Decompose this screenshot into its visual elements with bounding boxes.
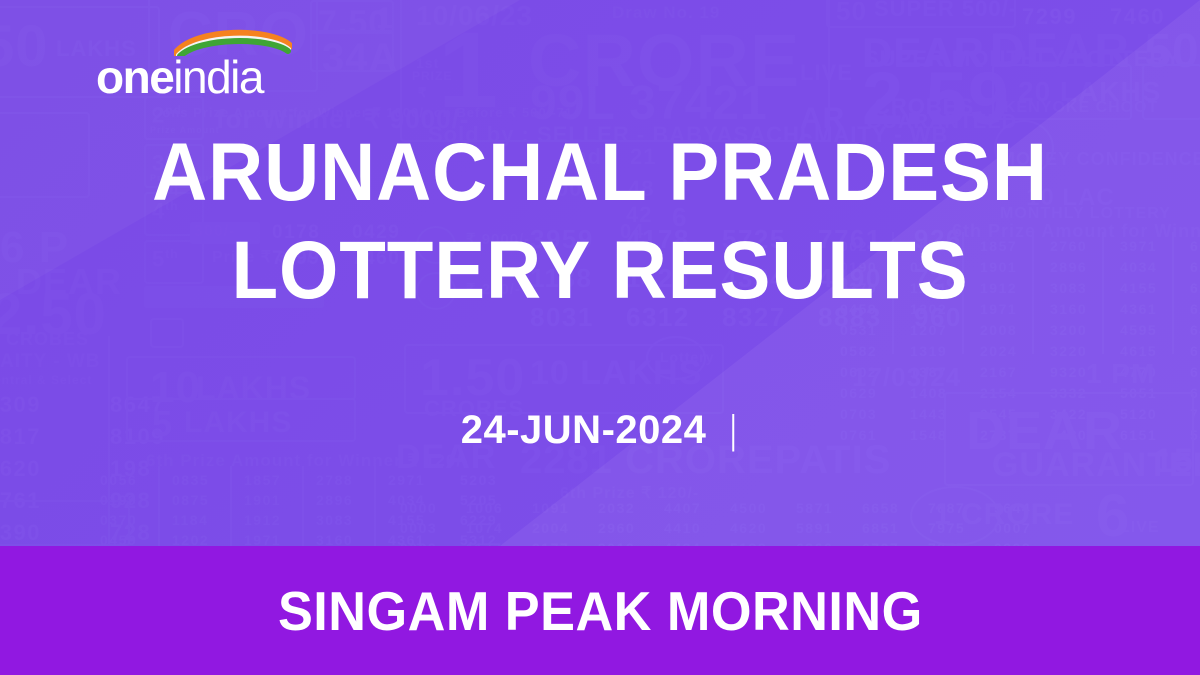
page-title: ARUNACHAL PRADESH LOTTERY RESULTS [0, 132, 1200, 312]
lottery-result-banner: 50 LAKHS 6 P DEAR 2.50 CROBES AITY - WB … [0, 0, 1200, 675]
logo-one-text: one [96, 51, 173, 103]
title-line-state: ARUNACHAL PRADESH [42, 132, 1158, 214]
oneindia-logo[interactable]: oneindia [96, 26, 296, 96]
title-line-subject: LOTTERY RESULTS [42, 230, 1158, 312]
result-date: 24-JUN-2024 [461, 408, 707, 452]
result-date-row: 24-JUN-2024| [0, 408, 1200, 453]
draw-name-text: SINGAM PEAK MORNING [278, 579, 923, 643]
draw-name-banner: SINGAM PEAK MORNING [0, 546, 1200, 675]
logo-india-text: india [173, 51, 263, 103]
logo-wordmark: oneindia [96, 54, 263, 100]
date-separator: | [731, 408, 738, 453]
